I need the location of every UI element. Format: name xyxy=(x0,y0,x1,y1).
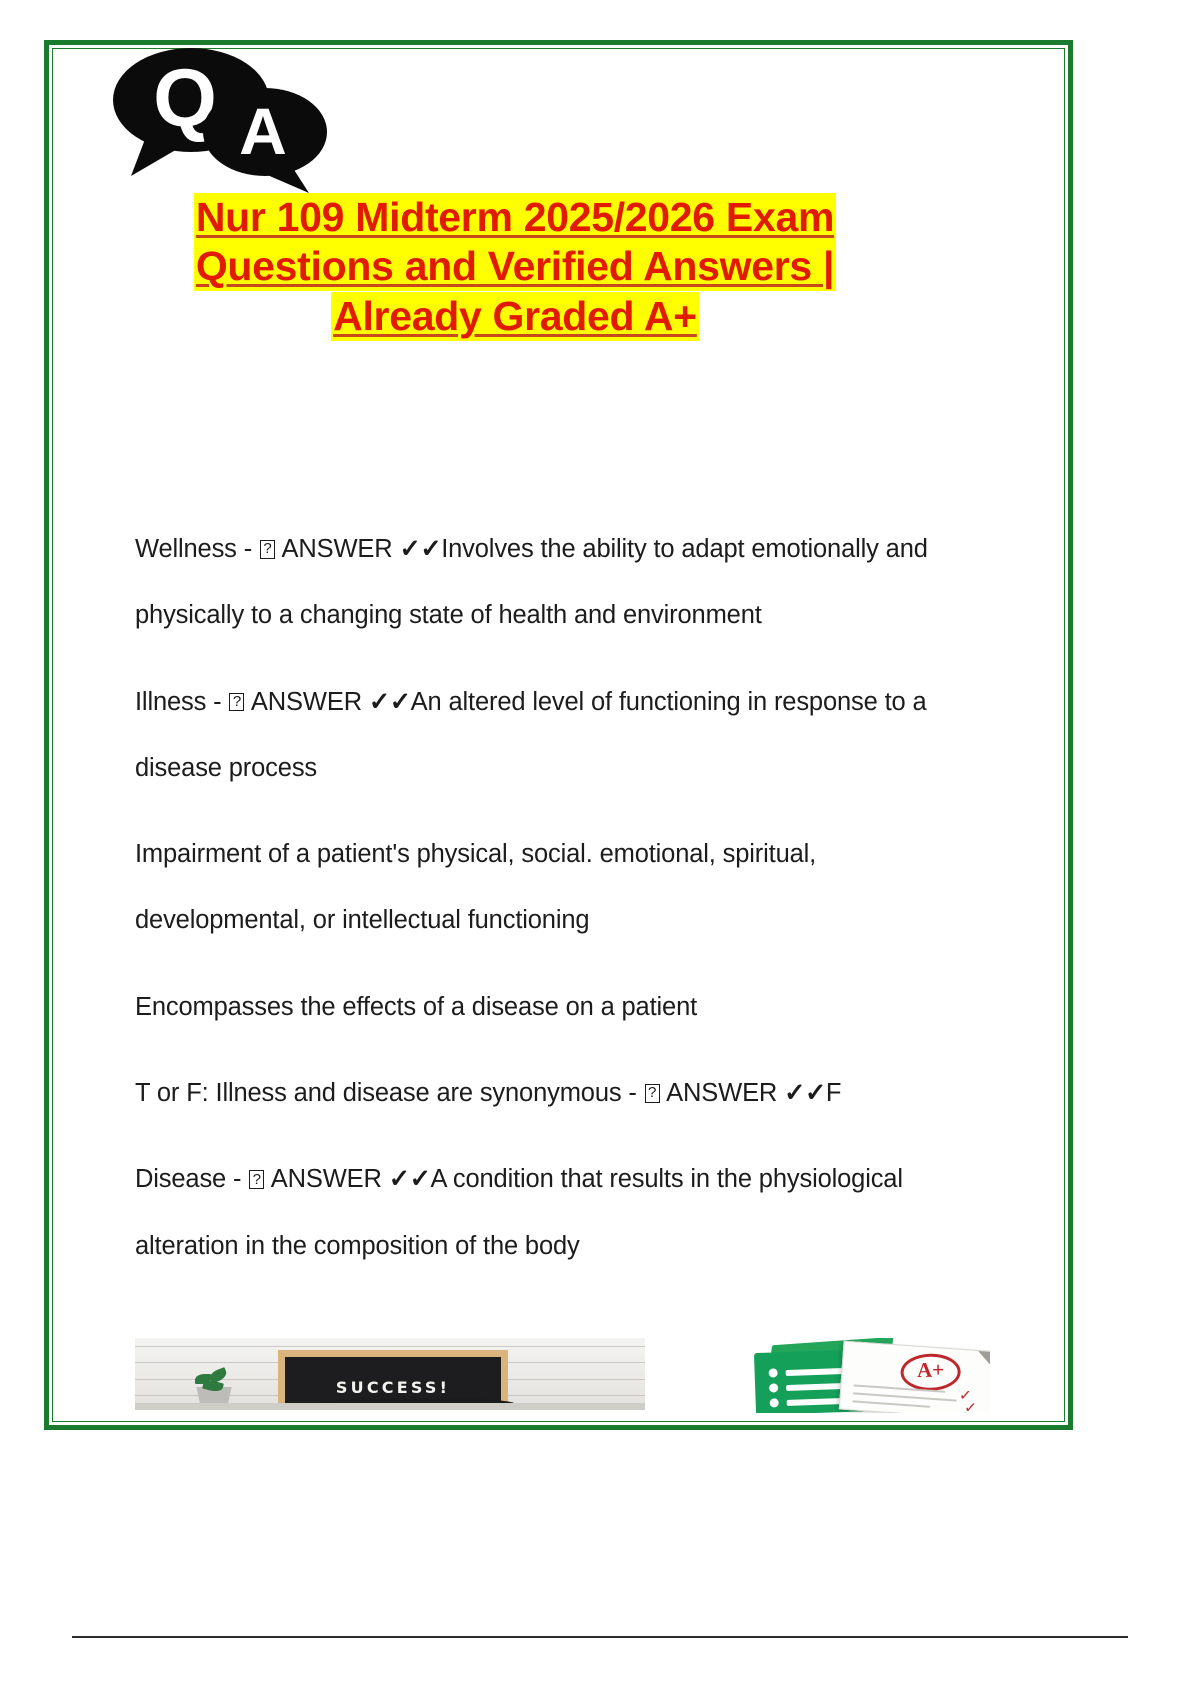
title-line-3: Already Graded A+ xyxy=(60,295,970,338)
qa-paragraph: Encompasses the effects of a disease on … xyxy=(135,974,965,1040)
qa-speech-bubble-logo: Q A xyxy=(113,38,328,193)
qa-separator: - xyxy=(237,535,259,563)
qa-separator: - xyxy=(206,688,228,716)
success-chalkboard-photo: SUCCESS! xyxy=(135,1338,645,1410)
qa-paragraph: Wellness - ANSWER ✓✓Involves the ability… xyxy=(135,516,965,649)
missing-glyph-icon xyxy=(229,693,244,712)
qa-paragraph: Disease - ANSWER ✓✓A condition that resu… xyxy=(135,1146,965,1279)
double-check-icon: ✓✓ xyxy=(399,535,441,563)
title-line-3-text: Already Graded A+ xyxy=(331,292,699,341)
page-corner-fold-icon xyxy=(977,1351,990,1374)
grade-stamp: A+ xyxy=(900,1353,961,1391)
qa-term: Disease xyxy=(135,1165,226,1193)
title-line-2: Questions and Verified Answers | xyxy=(60,245,970,288)
double-check-icon: ✓✓ xyxy=(784,1079,826,1107)
missing-glyph-icon xyxy=(260,540,275,559)
qa-paragraph: Illness - ANSWER ✓✓An altered level of f… xyxy=(135,669,965,802)
footer-image-strip: SUCCESS! A+ ✓ ✓ xyxy=(135,1338,990,1413)
qa-answer-text: F xyxy=(826,1079,841,1107)
page-bottom-divider xyxy=(72,1636,1128,1638)
qa-term: Wellness xyxy=(135,535,237,563)
graded-papers-graphic: A+ ✓ ✓ ✓ xyxy=(658,1338,990,1413)
qa-answer-label: ANSWER xyxy=(276,535,400,563)
svg-text:A: A xyxy=(239,94,287,168)
double-check-icon: ✓✓ xyxy=(369,688,411,716)
qa-term: Illness xyxy=(135,688,206,716)
qa-answer-text: Encompasses the effects of a disease on … xyxy=(135,993,697,1021)
qa-answer-label: ANSWER xyxy=(245,688,369,716)
document-title: Nur 109 Midterm 2025/2026 Exam Questions… xyxy=(60,196,970,344)
checklist-bullet-icon xyxy=(770,1398,779,1407)
title-line-1-text: Nur 109 Midterm 2025/2026 Exam xyxy=(194,193,836,242)
checklist-bullet-icon xyxy=(769,1383,778,1392)
qa-answer-text: Impairment of a patient's physical, soci… xyxy=(135,840,816,934)
qa-answer-label: ANSWER xyxy=(661,1079,785,1107)
chalkboard-text: SUCCESS! xyxy=(285,1378,501,1397)
qa-separator: - xyxy=(621,1079,643,1107)
document-page: Q A Nur 109 Midterm 2025/2026 Exam Quest… xyxy=(0,0,1200,1700)
qa-content-body: Wellness - ANSWER ✓✓Involves the ability… xyxy=(135,516,965,1279)
graded-white-sheet: A+ ✓ ✓ ✓ xyxy=(839,1341,990,1413)
desk-edge xyxy=(135,1403,645,1410)
missing-glyph-icon xyxy=(249,1170,264,1189)
title-line-2-text: Questions and Verified Answers | xyxy=(194,242,836,291)
checklist-bullet-icon xyxy=(769,1368,778,1377)
qa-term: T or F: Illness and disease are synonymo… xyxy=(135,1079,621,1107)
title-line-1: Nur 109 Midterm 2025/2026 Exam xyxy=(60,196,970,239)
missing-glyph-icon xyxy=(645,1084,660,1103)
qa-separator: - xyxy=(226,1165,248,1193)
qa-answer-label: ANSWER xyxy=(265,1165,389,1193)
qa-paragraph: T or F: Illness and disease are synonymo… xyxy=(135,1060,965,1126)
red-check-icon: ✓ xyxy=(955,1408,969,1413)
double-check-icon: ✓✓ xyxy=(389,1165,431,1193)
qa-paragraph: Impairment of a patient's physical, soci… xyxy=(135,821,965,954)
answer-bubble-icon: A xyxy=(203,88,327,193)
